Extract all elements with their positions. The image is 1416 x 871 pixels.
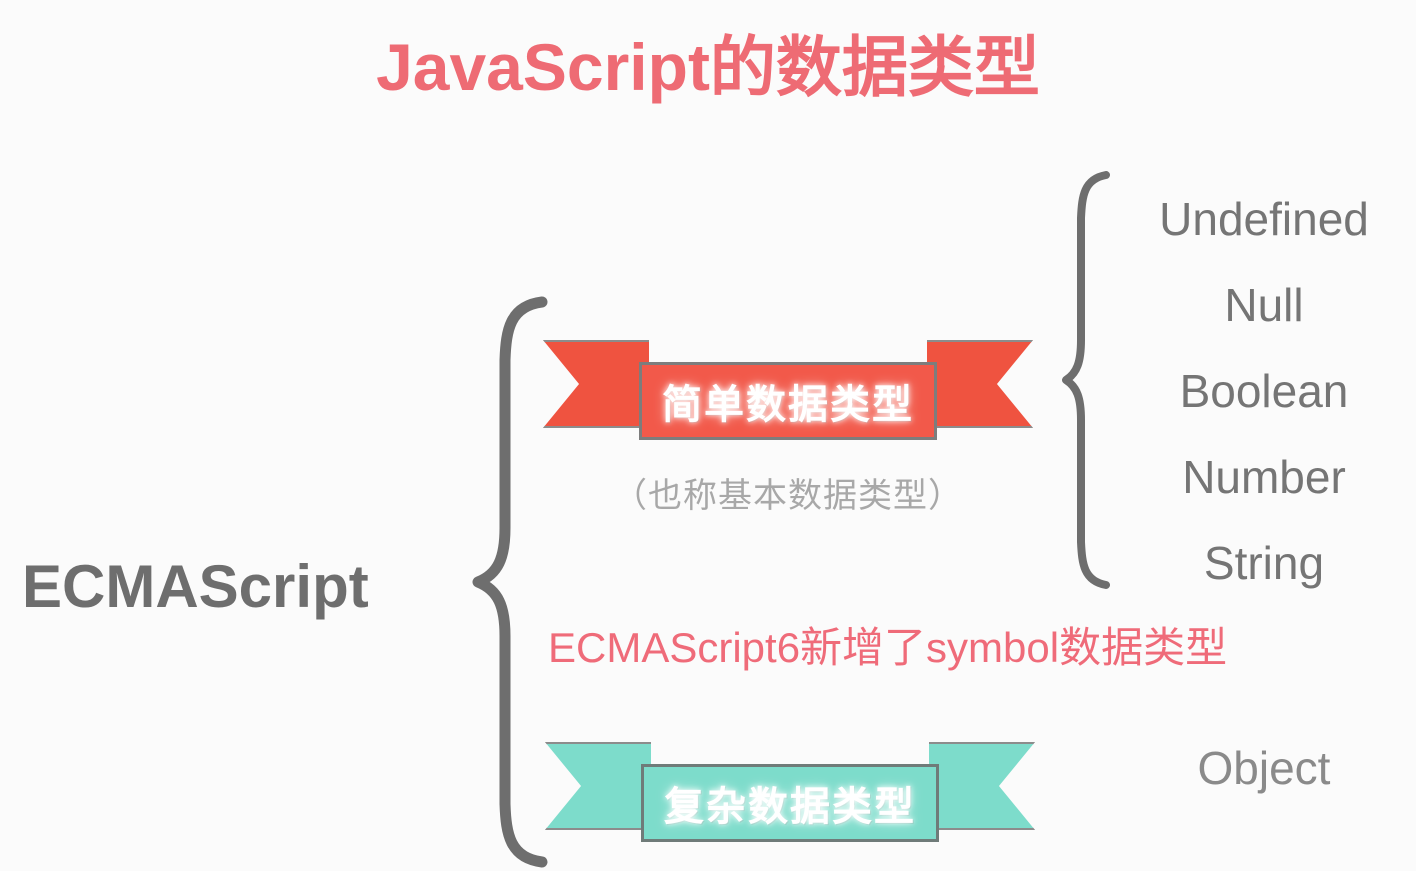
complex-type-list: Object [1120, 736, 1408, 800]
primitive-group-brace-icon [1062, 170, 1114, 590]
page-title: JavaScript的数据类型 [0, 34, 1416, 100]
banner-left-wing [543, 340, 649, 428]
main-brace-icon [472, 296, 554, 868]
banner-complex-data-type: 复杂数据类型 [545, 742, 1035, 842]
list-item: Undefined [1120, 176, 1408, 262]
banner-label-simple: 简单数据类型 [662, 372, 914, 430]
simple-type-alias-note: （也称基本数据类型） [543, 468, 1033, 517]
list-item: Number [1120, 434, 1408, 520]
banner-right-wing [927, 340, 1033, 428]
banner-simple-data-type: 简单数据类型 [543, 340, 1033, 440]
list-item: String [1120, 520, 1408, 606]
list-item: Object [1120, 736, 1408, 800]
slide-canvas: JavaScript的数据类型 ECMAScript 简单数据类型 （也称基本数… [0, 0, 1416, 871]
root-label-ecmascript: ECMAScript [22, 552, 369, 621]
banner-label-complex: 复杂数据类型 [664, 774, 916, 832]
banner-panel: 简单数据类型 [639, 362, 937, 440]
banner-right-wing [929, 742, 1035, 830]
primitive-type-list: Undefined Null Boolean Number String [1120, 176, 1408, 606]
list-item: Boolean [1120, 348, 1408, 434]
banner-left-wing [545, 742, 651, 830]
es6-symbol-note: ECMAScript6新增了symbol数据类型 [548, 614, 1227, 675]
banner-panel: 复杂数据类型 [641, 764, 939, 842]
list-item: Null [1120, 262, 1408, 348]
